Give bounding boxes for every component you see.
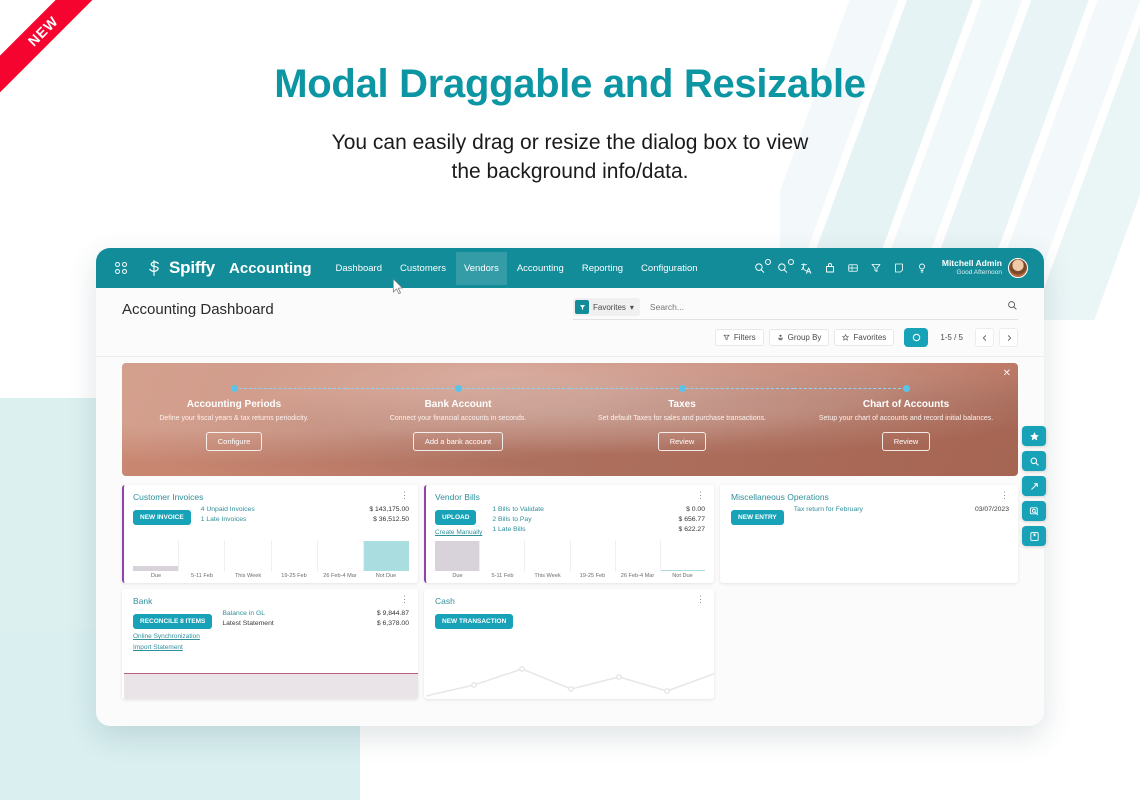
search-icon[interactable] — [1007, 298, 1018, 316]
nav-item-dashboard[interactable]: Dashboard — [328, 252, 390, 285]
onboarding-step-chart-of-accounts: Chart of Accounts Setup your chart of ac… — [794, 383, 1018, 476]
axis-tick: Not Due — [660, 571, 705, 579]
cash-line-chart — [426, 647, 714, 699]
stat-value: $ 0.00 — [686, 506, 705, 513]
favorites-facet-label: Favorites — [593, 303, 626, 312]
stat-row: Tax return for February 03/07/2023 — [794, 506, 1009, 513]
onboarding-step-taxes: Taxes Set default Taxes for sales and pu… — [570, 383, 794, 476]
shop-icon[interactable] — [823, 261, 837, 275]
stat-value: 03/07/2023 — [975, 506, 1009, 513]
customer-invoices-bar-chart: Due 5-11 Feb This Week 19-25 Feb 26 Feb-… — [133, 541, 409, 583]
lightbulb-icon[interactable] — [915, 261, 929, 275]
filter-icon — [723, 334, 730, 341]
funnel-icon[interactable] — [869, 261, 883, 275]
step-title: Chart of Accounts — [802, 399, 1010, 410]
vendor-bills-bar-chart: Due 5-11 Feb This Week 19-25 Feb 26 Feb-… — [435, 541, 705, 583]
more-vertical-icon[interactable]: ⋮ — [400, 492, 409, 498]
favorites-label: Favorites — [853, 333, 886, 342]
stat-label[interactable]: Balance in GL — [222, 610, 265, 617]
add-bank-account-button[interactable]: Add a bank account — [413, 432, 503, 451]
stat-value: $ 143,175.00 — [369, 506, 409, 513]
stat-value: $ 622.27 — [679, 526, 705, 533]
import-statement-link[interactable]: Import Statement — [133, 644, 212, 651]
subtitle-line-1: You can easily drag or resize the dialog… — [332, 131, 809, 154]
stat-row: 4 Unpaid Invoices $ 143,175.00 — [201, 506, 409, 513]
stat-label[interactable]: 1 Bills to Validate — [492, 506, 544, 513]
control-panel: Accounting Dashboard Favorites ▾ Filters — [96, 288, 1044, 357]
favorites-facet[interactable]: Favorites ▾ — [573, 298, 640, 316]
pager-previous-button[interactable] — [975, 328, 994, 347]
reconcile-button[interactable]: RECONCILE 8 ITEMS — [133, 614, 212, 629]
group-by-label: Group By — [788, 333, 822, 342]
nav-item-configuration[interactable]: Configuration — [633, 252, 706, 285]
page-title: Modal Draggable and Resizable — [0, 62, 1140, 107]
stat-row: 2 Bills to Pay $ 656.77 — [492, 516, 705, 523]
card-stats: Tax return for February 03/07/2023 — [794, 506, 1009, 525]
nav-item-accounting[interactable]: Accounting — [509, 252, 572, 285]
card-miscellaneous-operations[interactable]: Miscellaneous Operations ⋮ NEW ENTRY Tax… — [720, 485, 1018, 583]
kanban-view-icon[interactable] — [904, 328, 928, 347]
axis-tick: 26 Feb-4 Mar — [615, 571, 660, 579]
review-taxes-button[interactable]: Review — [658, 432, 707, 451]
axis-tick: 5-11 Feb — [179, 571, 225, 579]
stat-label[interactable]: Tax return for February — [794, 506, 863, 513]
stat-row: 1 Late Invoices $ 36,512.50 — [201, 516, 409, 523]
stat-row: Balance in GL $ 9,844.87 — [222, 610, 409, 617]
group-icon — [777, 334, 784, 341]
nav-item-vendors[interactable]: Vendors — [456, 252, 507, 285]
pager: 1-5 / 5 — [940, 333, 963, 342]
step-description: Setup your chart of accounts and record … — [802, 414, 1010, 424]
stat-value: $ 9,844.87 — [377, 610, 409, 617]
resize-icon[interactable] — [1022, 476, 1046, 496]
arrow-right-icon — [1005, 334, 1013, 342]
stat-row: 1 Late Bills $ 622.27 — [492, 526, 705, 533]
new-ribbon: NEW — [0, 0, 112, 112]
user-menu[interactable]: Mitchell Admin Good Afternoon — [942, 258, 1028, 278]
hero-section: Modal Draggable and Resizable You can ea… — [0, 0, 1140, 187]
subtitle-line-2: the background info/data. — [451, 160, 688, 183]
translate-icon[interactable] — [800, 261, 814, 275]
card-title: Customer Invoices — [133, 492, 203, 502]
stat-row: 1 Bills to Validate $ 0.00 — [492, 506, 705, 513]
axis-tick: Not Due — [363, 571, 409, 579]
card-customer-invoices[interactable]: Customer Invoices ⋮ NEW INVOICE 4 Unpaid… — [122, 485, 418, 583]
note-icon[interactable] — [892, 261, 906, 275]
arrow-left-icon — [981, 334, 989, 342]
navbar-systray: Mitchell Admin Good Afternoon — [754, 258, 1032, 278]
filter-icon — [575, 300, 589, 314]
new-transaction-button[interactable]: NEW TRANSACTION — [435, 614, 513, 629]
more-vertical-icon[interactable]: ⋮ — [1000, 492, 1009, 498]
bank-balance-bar — [124, 673, 418, 699]
search-bar[interactable]: Favorites ▾ — [573, 298, 1018, 320]
axis-tick: 19-25 Feb — [271, 571, 317, 579]
axis-tick: Due — [435, 571, 480, 579]
nav-menu: Dashboard Customers Vendors Accounting R… — [328, 252, 706, 285]
axis-tick: This Week — [225, 571, 271, 579]
create-manually-link[interactable]: Create Manually — [435, 529, 482, 536]
filters-label: Filters — [734, 333, 756, 342]
card-bank[interactable]: Bank ⋮ RECONCILE 8 ITEMS Online Synchron… — [122, 589, 418, 699]
online-synchronization-link[interactable]: Online Synchronization — [133, 633, 212, 640]
close-icon[interactable]: ✕ — [1003, 368, 1011, 379]
apps-grid-icon[interactable] — [108, 262, 134, 274]
floating-action-rail — [1022, 426, 1046, 546]
review-coa-button[interactable]: Review — [882, 432, 931, 451]
mouse-cursor — [392, 278, 404, 294]
configure-button[interactable]: Configure — [206, 432, 263, 451]
pager-next-button[interactable] — [999, 328, 1018, 347]
zoom-icon[interactable] — [1022, 501, 1046, 521]
brand[interactable]: Spiffy — [144, 258, 215, 278]
avatar — [1008, 258, 1028, 278]
app-title: Accounting — [229, 260, 312, 277]
bookmark-icon[interactable] — [1022, 526, 1046, 546]
search-input[interactable] — [650, 302, 1007, 312]
dashboard-cards-row-1: Customer Invoices ⋮ NEW INVOICE 4 Unpaid… — [122, 485, 1018, 583]
onboarding-step-bank-account: Bank Account Connect your financial acco… — [346, 383, 570, 476]
stat-value: $ 6,378.00 — [377, 620, 409, 627]
step-description: Set default Taxes for sales and purchase… — [578, 414, 786, 424]
messages-icon[interactable] — [754, 261, 768, 275]
stat-label[interactable]: 1 Late Bills — [492, 526, 525, 533]
brand-name: Spiffy — [169, 258, 215, 278]
axis-tick: This Week — [525, 571, 570, 579]
new-entry-button[interactable]: NEW ENTRY — [731, 510, 784, 525]
spiffy-logo-icon — [144, 258, 164, 278]
axis-tick: 5-11 Feb — [480, 571, 525, 579]
axis-tick: 19-25 Feb — [570, 571, 615, 579]
stat-value: $ 656.77 — [679, 516, 705, 523]
step-title: Bank Account — [354, 399, 562, 410]
card-title: Bank — [133, 596, 152, 606]
nav-item-reporting[interactable]: Reporting — [574, 252, 631, 285]
step-description: Define your fiscal years & tax returns p… — [130, 414, 338, 424]
card-stats: Balance in GL $ 9,844.87 Latest Statemen… — [222, 610, 409, 651]
top-navbar: Spiffy Accounting Dashboard Customers Ve… — [96, 248, 1044, 288]
stat-label: Latest Statement — [222, 620, 273, 627]
card-title: Vendor Bills — [435, 492, 480, 502]
filters-button[interactable]: Filters — [715, 329, 764, 346]
chevron-down-icon: ▾ — [630, 303, 634, 312]
user-name: Mitchell Admin — [942, 259, 1002, 269]
favorites-button[interactable]: Favorites — [834, 329, 894, 346]
star-icon[interactable] — [1022, 426, 1046, 446]
user-greeting: Good Afternoon — [942, 269, 1002, 276]
more-vertical-icon[interactable]: ⋮ — [696, 492, 705, 498]
axis-tick: Due — [133, 571, 179, 579]
stat-row: Latest Statement $ 6,378.00 — [222, 620, 409, 627]
more-vertical-icon[interactable]: ⋮ — [400, 596, 409, 602]
new-ribbon-label: NEW — [0, 0, 108, 96]
breadcrumb: Accounting Dashboard — [122, 301, 274, 318]
onboarding-banner: ✕ Accounting Periods Define your fiscal … — [122, 363, 1018, 476]
card-cash[interactable]: Cash ⋮ NEW TRANSACTION — [424, 589, 714, 699]
page-subtitle: You can easily drag or resize the dialog… — [0, 129, 1140, 187]
stat-value: $ 36,512.50 — [373, 516, 409, 523]
onboarding-step-accounting-periods: Accounting Periods Define your fiscal ye… — [122, 383, 346, 476]
card-title: Cash — [435, 596, 455, 606]
step-title: Taxes — [578, 399, 786, 410]
app-window: Spiffy Accounting Dashboard Customers Ve… — [96, 248, 1044, 726]
new-invoice-button[interactable]: NEW INVOICE — [133, 510, 191, 525]
step-description: Connect your financial accounts in secon… — [354, 414, 562, 424]
activities-icon[interactable] — [777, 261, 791, 275]
stat-label[interactable]: 2 Bills to Pay — [492, 516, 531, 523]
axis-tick: 26 Feb-4 Mar — [317, 571, 363, 579]
more-vertical-icon[interactable]: ⋮ — [696, 596, 705, 602]
stat-label[interactable]: 4 Unpaid Invoices — [201, 506, 255, 513]
search-icon[interactable] — [1022, 451, 1046, 471]
step-title: Accounting Periods — [130, 399, 338, 410]
upload-button[interactable]: UPLOAD — [435, 510, 476, 525]
card-stats: 1 Bills to Validate $ 0.00 2 Bills to Pa… — [492, 506, 705, 536]
star-icon — [842, 334, 849, 341]
card-stats: 4 Unpaid Invoices $ 143,175.00 1 Late In… — [201, 506, 409, 526]
card-title: Miscellaneous Operations — [731, 492, 829, 502]
group-by-button[interactable]: Group By — [769, 329, 830, 346]
grid-view-icon[interactable] — [846, 261, 860, 275]
stat-label[interactable]: 1 Late Invoices — [201, 516, 247, 523]
dashboard-cards-row-2: Bank ⋮ RECONCILE 8 ITEMS Online Synchron… — [122, 589, 1018, 699]
card-vendor-bills[interactable]: Vendor Bills ⋮ UPLOAD Create Manually 1 … — [424, 485, 714, 583]
